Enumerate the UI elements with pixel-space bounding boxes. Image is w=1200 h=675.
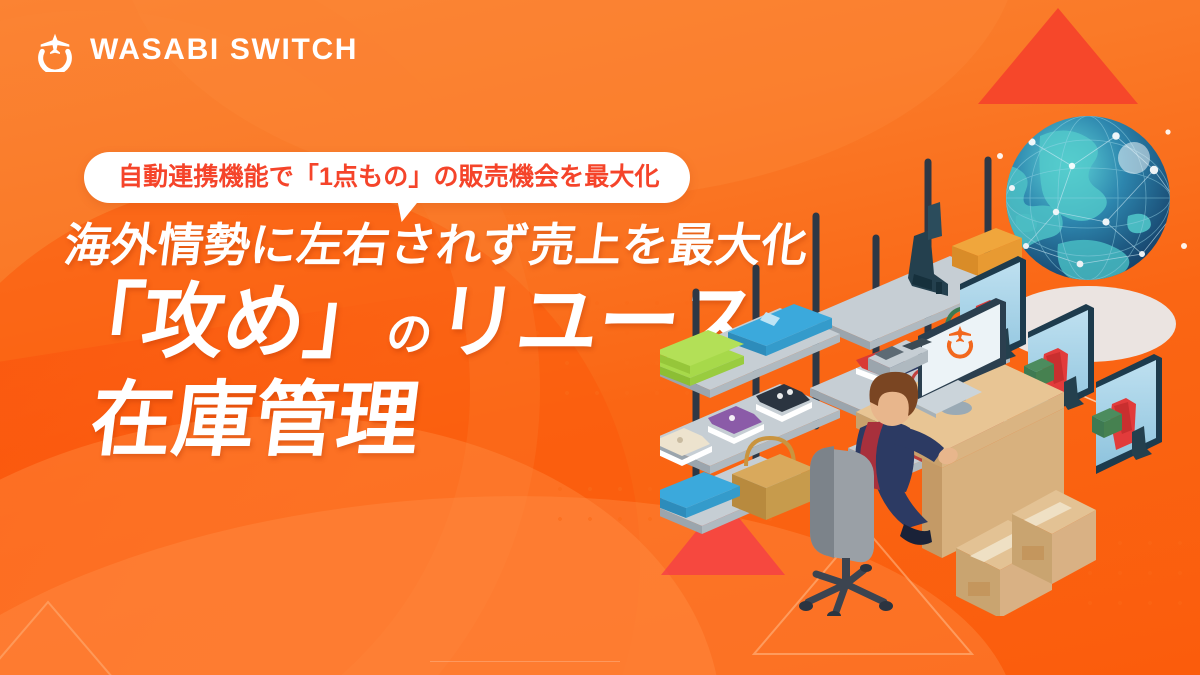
headline-close-quote: 」 <box>300 282 391 364</box>
airplane-power-switch-icon <box>34 28 76 72</box>
decorative-hairline <box>430 661 620 662</box>
headline-open-quote: 「 <box>56 282 147 364</box>
brand-logo[interactable]: WASABI SWITCH <box>34 28 358 72</box>
hero-banner: WASABI SWITCH 自動連携機能で「1点もの」の販売機会を最大化 海外情… <box>0 0 1200 675</box>
listing-screen <box>1092 354 1162 474</box>
badge-bubble: 自動連携機能で「1点もの」の販売機会を最大化 <box>84 152 690 203</box>
decorative-outline-triangle-left <box>0 596 148 675</box>
headline-emphasis: 攻め <box>137 282 309 364</box>
headline-particle: の <box>382 311 438 357</box>
tagline-badge: 自動連携機能で「1点もの」の販売機会を最大化 <box>84 152 690 203</box>
badge-label: 自動連携機能で「1点もの」の販売機会を最大化 <box>118 163 660 191</box>
headline-block: 海外情勢に左右されず売上を最大化 「 攻め 」 の リユース 在庫管理 <box>0 222 760 462</box>
boots-item <box>908 202 948 296</box>
decorative-triangle-top-right <box>978 8 1138 104</box>
isometric-illustration <box>660 96 1200 616</box>
brand-name: WASABI SWITCH <box>90 35 358 65</box>
